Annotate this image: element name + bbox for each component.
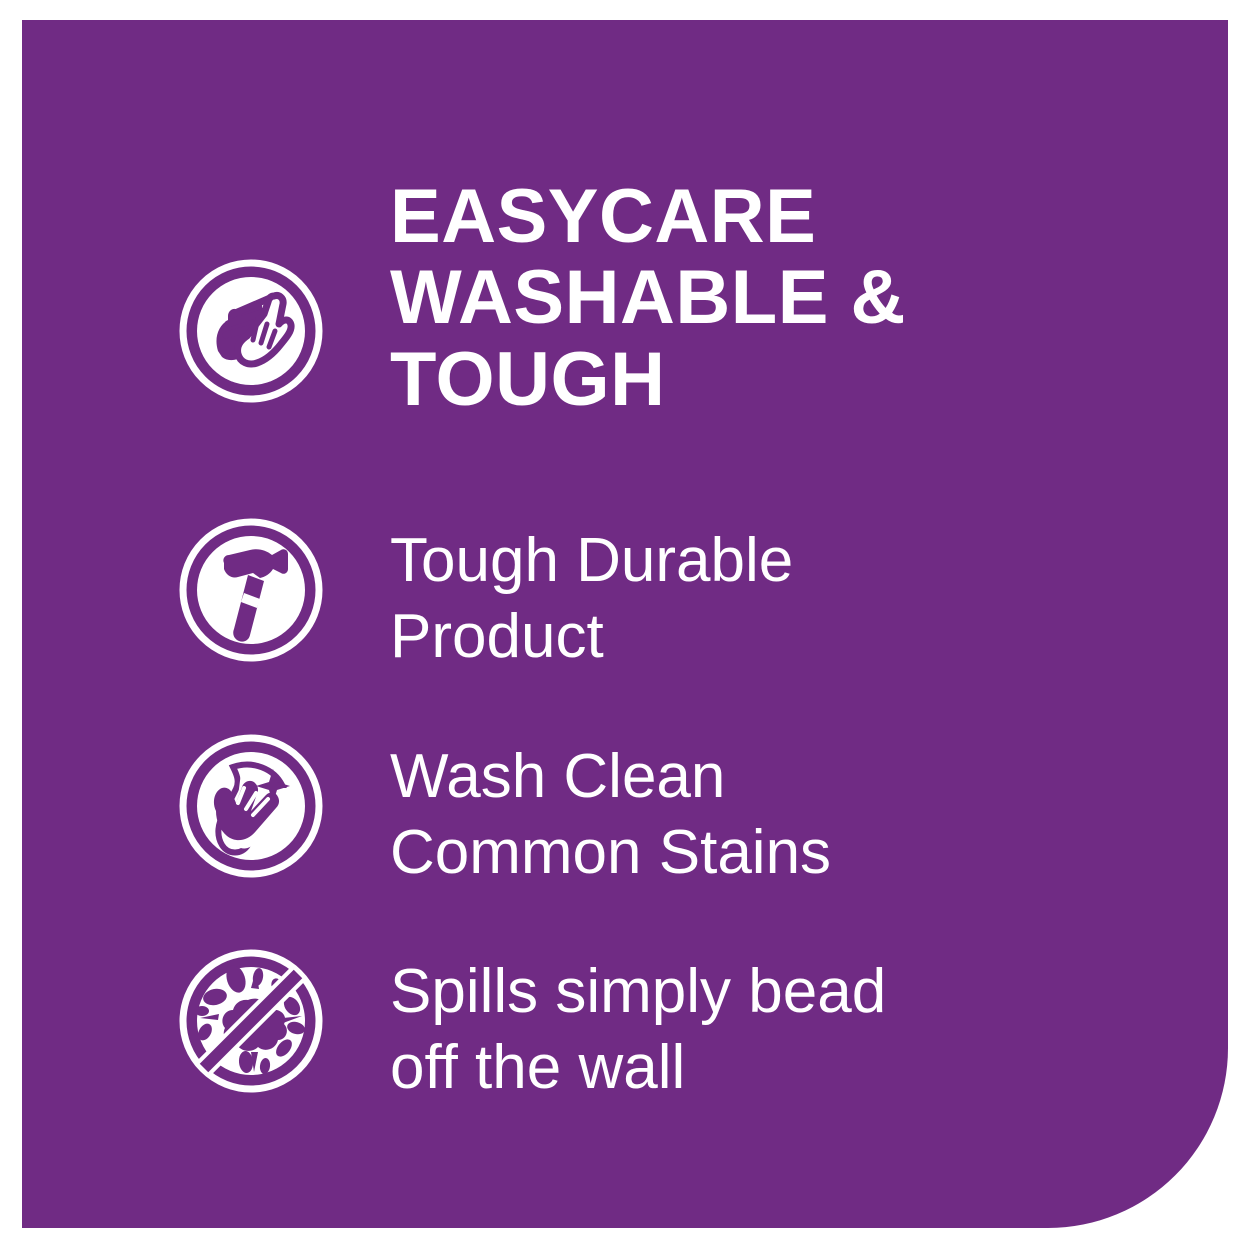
feature-line-2: off the wall: [390, 1033, 685, 1102]
feature-text-wash-clean: Wash Clean Common Stains: [390, 739, 1090, 890]
feature-line-2: Common Stains: [390, 818, 831, 887]
feature-text-spills-bead: Spills simply bead off the wall: [390, 954, 1150, 1105]
heading-line-1: EASYCARE: [390, 174, 816, 259]
page-title: EASYCARE WASHABLE & TOUGH: [390, 176, 1050, 420]
feature-line-1: Spills simply bead: [390, 957, 886, 1026]
heading-feature-row: EASYCARE WASHABLE & TOUGH: [178, 238, 1050, 420]
hammer-icon: [178, 517, 324, 663]
feature-row-spills-bead: Spills simply bead off the wall: [178, 948, 1150, 1105]
easycare-feature-panel: EASYCARE WASHABLE & TOUGH Tough Du: [22, 20, 1228, 1228]
heading-line-2: WASHABLE &: [390, 255, 906, 340]
no-splash-stain-icon: [178, 948, 324, 1094]
feature-line-1: Wash Clean: [390, 742, 725, 811]
feature-row-wash-clean: Wash Clean Common Stains: [178, 733, 1090, 890]
feature-line-1: Tough Durable: [390, 526, 793, 595]
feature-line-2: Product: [390, 602, 604, 671]
feature-text-tough-durable: Tough Durable Product: [390, 523, 1090, 674]
heading-line-3: TOUGH: [390, 337, 666, 422]
feature-row-tough-durable: Tough Durable Product: [178, 517, 1090, 674]
washing-hands-icon: [178, 258, 324, 404]
hand-wipe-sparkle-icon: [178, 733, 324, 879]
